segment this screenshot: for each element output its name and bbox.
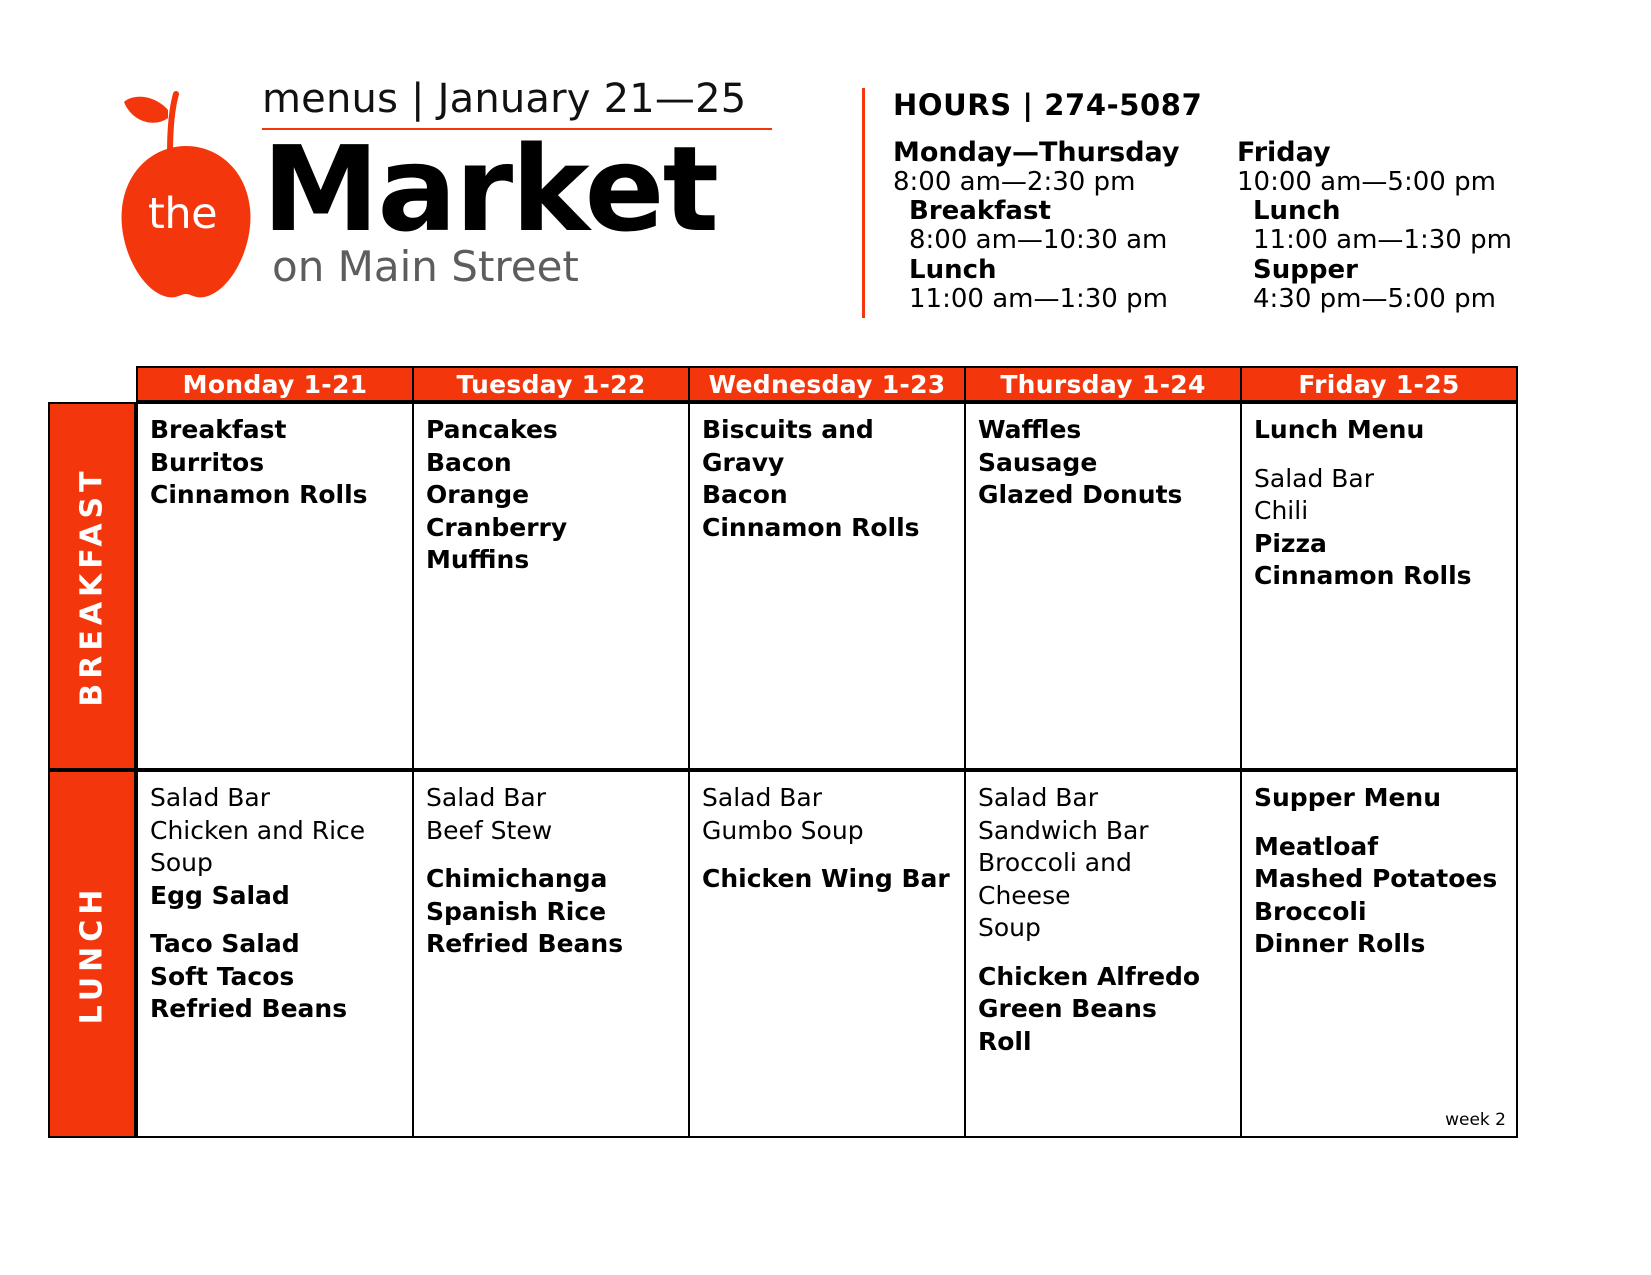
menu-item: Sausage <box>978 447 1228 480</box>
hours-meal-name: Breakfast <box>893 197 1237 226</box>
menu-item-spacer <box>426 847 676 863</box>
apple-stem-leaf-icon <box>114 88 224 158</box>
menu-item: Pizza <box>1254 528 1504 561</box>
lunch-cell-friday: Supper Menu MeatloafMashed PotatoesBrocc… <box>1242 772 1516 1136</box>
menu-item: Refried Beans <box>150 993 400 1026</box>
lunch-cell-tuesday: Salad BarBeef Stew ChimichangaSpanish Ri… <box>414 772 690 1136</box>
lunch-row: Salad BarChicken and Rice SoupEgg Salad … <box>136 770 1518 1138</box>
menu-item-spacer <box>150 912 400 928</box>
menu-item: Soft Tacos <box>150 961 400 994</box>
menu-item: Chicken Wing Bar <box>702 863 952 896</box>
hours-meal-time: 8:00 am—10:30 am <box>893 226 1237 255</box>
menu-item: Meatloaf <box>1254 831 1504 864</box>
menu-item: Waffles <box>978 414 1228 447</box>
menu-item: Taco Salad <box>150 928 400 961</box>
menu-item: Soup <box>978 912 1228 945</box>
row-label-lunch: LUNCH <box>48 770 136 1138</box>
breakfast-cell-friday: Lunch Menu Salad BarChiliPizzaCinnamon R… <box>1242 404 1516 768</box>
menu-item: Chili <box>1254 495 1504 528</box>
hours-column-monday-thursday: Monday—Thursday 8:00 am—2:30 pm Breakfas… <box>893 138 1237 314</box>
hours-day-label: Friday <box>1237 138 1522 168</box>
hours-open-range: 8:00 am—2:30 pm <box>893 168 1237 197</box>
menu-item: Pancakes <box>426 414 676 447</box>
hours-meal-time: 4:30 pm—5:00 pm <box>1237 285 1522 314</box>
menu-item: Salad Bar <box>426 782 676 815</box>
hours-title: HOURS | 274-5087 <box>893 88 1522 122</box>
day-header-thursday: Thursday 1-24 <box>966 368 1242 400</box>
menu-item: Dinner Rolls <box>1254 928 1504 961</box>
menu-item: Breakfast Burritos <box>150 414 400 479</box>
logo-the-text: the <box>148 193 217 236</box>
lunch-cell-wednesday: Salad BarGumbo Soup Chicken Wing Bar <box>690 772 966 1136</box>
row-label-breakfast: BREAKFAST <box>48 402 136 770</box>
breakfast-cell-tuesday: PancakesBaconOrange CranberryMuffins <box>414 404 690 768</box>
hours-open-range: 10:00 am—5:00 pm <box>1237 168 1522 197</box>
menu-item-spacer <box>1254 447 1504 463</box>
menu-item: Green Beans <box>978 993 1228 1026</box>
menu-item-spacer <box>702 847 952 863</box>
menu-item-spacer <box>1254 815 1504 831</box>
menu-item: Broccoli and Cheese <box>978 847 1228 912</box>
menus-date-line: menus | January 21—25 <box>262 78 822 120</box>
lunch-cell-thursday: Salad BarSandwich BarBroccoli and Cheese… <box>966 772 1242 1136</box>
menu-item: Muffins <box>426 544 676 577</box>
masthead: the menus | January 21—25 Market on Main… <box>0 0 1651 350</box>
hours-meal-name: Lunch <box>1237 197 1522 226</box>
day-header-monday: Monday 1-21 <box>138 368 414 400</box>
menu-item: Mashed Potatoes <box>1254 863 1504 896</box>
hours-meal-name: Supper <box>1237 256 1522 285</box>
menu-item: Biscuits and Gravy <box>702 414 952 479</box>
breakfast-row: Breakfast BurritosCinnamon Rolls Pancake… <box>136 402 1518 770</box>
menu-table: Monday 1-21 Tuesday 1-22 Wednesday 1-23 … <box>48 366 1518 1138</box>
menu-item: Broccoli <box>1254 896 1504 929</box>
menu-item: Glazed Donuts <box>978 479 1228 512</box>
hours-meal-name: Lunch <box>893 256 1237 285</box>
brand-subtitle: on Main Street <box>272 242 822 291</box>
menu-item: Chicken and Rice Soup <box>150 815 400 880</box>
menu-page: the menus | January 21—25 Market on Main… <box>0 0 1651 1275</box>
menu-item: Sandwich Bar <box>978 815 1228 848</box>
menu-item: Cinnamon Rolls <box>702 512 952 545</box>
menu-item: Chicken Alfredo <box>978 961 1228 994</box>
breakfast-cell-thursday: WafflesSausageGlazed Donuts <box>966 404 1242 768</box>
row-label-breakfast-text: BREAKFAST <box>75 466 110 706</box>
title-block: menus | January 21—25 Market on Main Str… <box>262 78 822 291</box>
table-header-row: Monday 1-21 Tuesday 1-22 Wednesday 1-23 … <box>136 366 1518 402</box>
hours-column-friday: Friday 10:00 am—5:00 pm Lunch 11:00 am—1… <box>1237 138 1522 314</box>
brand-title: Market <box>262 132 822 248</box>
menu-item: Bacon <box>426 447 676 480</box>
menu-item: Bacon <box>702 479 952 512</box>
breakfast-cell-monday: Breakfast BurritosCinnamon Rolls <box>138 404 414 768</box>
hours-meal-time: 11:00 am—1:30 pm <box>1237 226 1522 255</box>
menu-item: Lunch Menu <box>1254 414 1504 447</box>
day-header-wednesday: Wednesday 1-23 <box>690 368 966 400</box>
day-header-friday: Friday 1-25 <box>1242 368 1516 400</box>
menu-item: Spanish Rice <box>426 896 676 929</box>
menu-item: Supper Menu <box>1254 782 1504 815</box>
menu-item-spacer <box>978 945 1228 961</box>
week-note: week 2 <box>1445 1110 1506 1130</box>
hours-day-label: Monday—Thursday <box>893 138 1237 168</box>
menu-item: Gumbo Soup <box>702 815 952 848</box>
menu-item: Cinnamon Rolls <box>150 479 400 512</box>
menu-item: Cinnamon Rolls <box>1254 560 1504 593</box>
row-label-lunch-text: LUNCH <box>75 884 110 1024</box>
hours-block: HOURS | 274-5087 Monday—Thursday 8:00 am… <box>862 88 1522 318</box>
day-header-tuesday: Tuesday 1-22 <box>414 368 690 400</box>
menu-item: Refried Beans <box>426 928 676 961</box>
menu-item: Salad Bar <box>150 782 400 815</box>
menu-item: Orange Cranberry <box>426 479 676 544</box>
menu-item: Salad Bar <box>978 782 1228 815</box>
menu-item: Salad Bar <box>1254 463 1504 496</box>
menu-item: Roll <box>978 1026 1228 1059</box>
lunch-cell-monday: Salad BarChicken and Rice SoupEgg Salad … <box>138 772 414 1136</box>
hours-columns: Monday—Thursday 8:00 am—2:30 pm Breakfas… <box>893 138 1522 314</box>
menu-item: Beef Stew <box>426 815 676 848</box>
menu-item: Salad Bar <box>702 782 952 815</box>
menu-item: Egg Salad <box>150 880 400 913</box>
hours-meal-time: 11:00 am—1:30 pm <box>893 285 1237 314</box>
breakfast-cell-wednesday: Biscuits and GravyBaconCinnamon Rolls <box>690 404 966 768</box>
menu-item: Chimichanga <box>426 863 676 896</box>
